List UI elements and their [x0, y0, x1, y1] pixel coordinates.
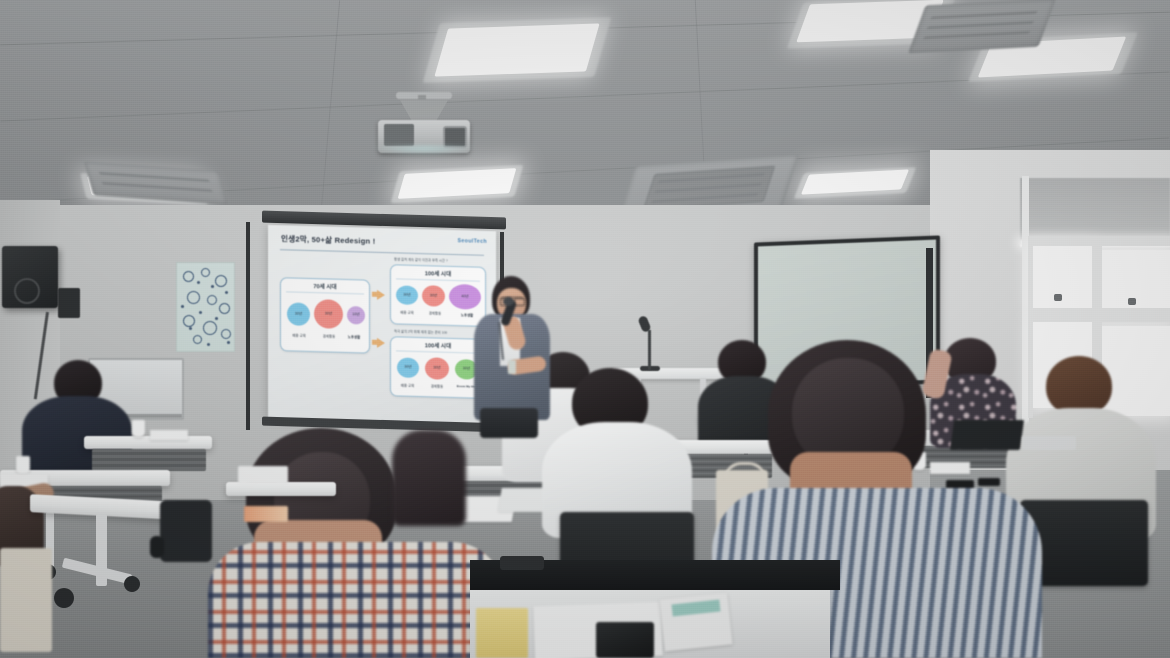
papers: [930, 462, 970, 474]
bubble-purple: 40년: [449, 284, 481, 310]
loudspeaker-cone-icon: [14, 278, 40, 304]
projector-light-glow: [372, 146, 476, 156]
arrow-to-100-top: [377, 290, 385, 300]
table: [226, 482, 336, 496]
caption-economy: 경제활동: [419, 310, 451, 316]
caption-retirement: 노후생활: [339, 334, 369, 340]
panel-divider: [396, 350, 480, 353]
bubble-red: 30년: [314, 299, 343, 329]
laptop-base[interactable]: [1022, 436, 1076, 450]
lanyard-badge: [508, 360, 516, 374]
person-head: [1046, 356, 1112, 416]
backpack: [160, 500, 212, 562]
window-latch[interactable]: [1054, 294, 1062, 301]
bubble-blue: 30년: [287, 302, 310, 326]
yellow-notepad: [476, 608, 528, 658]
caption-education: 배움·교육: [391, 382, 424, 388]
slide-logo: SeoulTech: [458, 238, 487, 245]
caption-retirement: 노후생활: [451, 312, 483, 318]
window-pane: [1102, 250, 1170, 312]
panel-divider: [396, 278, 480, 281]
slide-panel-100-bottom: 100세 시대 30년 30년 30년 배움·교육 경제활동 Boom My l…: [390, 336, 486, 399]
paper-cup: [16, 456, 30, 474]
bubble-purple: 10년: [347, 306, 365, 325]
window-latch[interactable]: [1128, 298, 1136, 305]
slide-title-rule: [280, 249, 484, 256]
handout-booklet: [244, 506, 288, 522]
slide-note-bottom: 적극 삶의 2막 위해 재취 없는 준비 100: [394, 328, 447, 334]
microphone-stand: [648, 330, 651, 370]
microphone-capsule: [503, 297, 514, 306]
panel-divider: [286, 291, 364, 294]
table-modesty-panel: [92, 449, 206, 471]
papers: [238, 466, 288, 484]
projection-screen: 인생2막, 50+삶 Redesign ! SeoulTech 70세 시대 3…: [268, 225, 496, 424]
bubble-blue: 30년: [396, 285, 418, 305]
loudspeaker-mount: [58, 288, 80, 318]
window-pane: [1102, 326, 1170, 416]
slide-title: 인생2막, 50+삶 Redesign !: [281, 233, 375, 247]
screen-left-edge: [246, 222, 250, 430]
slide-panel-100-top: 100세 시대 30년 30년 40년 배움·교육 경제활동 노후생활: [390, 264, 486, 327]
slide-note-top: 평생 걸쳐 계속 같이 이전과 부족 시간 ?: [394, 256, 448, 263]
projected-slide: 인생2막, 50+삶 Redesign ! SeoulTech 70세 시대 3…: [268, 225, 496, 424]
projector-vent: [384, 124, 414, 146]
person-dark-top: [392, 430, 466, 526]
slide-panel-100-bottom-heading: 100세 시대: [391, 340, 485, 351]
decorative-art-panel: [176, 262, 235, 352]
window-mullion: [1028, 236, 1033, 418]
ac-unit: [908, 0, 1056, 53]
table: [84, 436, 212, 449]
black-smartphone[interactable]: [596, 622, 654, 658]
window-pane: [1032, 246, 1092, 308]
circle-pattern-icon: [177, 263, 234, 351]
arrow-to-100-bottom: [377, 338, 385, 348]
bubble-blue: 30년: [397, 357, 419, 378]
chair-headrest: [500, 556, 544, 570]
caster-wheel: [54, 588, 74, 608]
person-plaid-shirt: [208, 542, 504, 658]
window-mullion: [1028, 308, 1170, 322]
seminar-room-photo: 인생2막, 50+삶 Redesign ! SeoulTech 70세 시대 3…: [0, 0, 1170, 658]
caster-wheel: [124, 576, 140, 592]
presenter-trousers: [480, 408, 538, 438]
paper-cup: [132, 420, 145, 437]
slide-panel-70: 70세 시대 30년 30년 10년 배움·교육 경제활동 노후생활: [280, 277, 370, 354]
projector-lens: [443, 126, 467, 148]
slide-panel-100-top-heading: 100세 시대: [391, 268, 485, 279]
laptop[interactable]: [950, 420, 1024, 450]
bubble-red: 30년: [425, 357, 449, 380]
papers: [150, 430, 188, 440]
black-smartphone[interactable]: [978, 478, 1000, 486]
tote-bag: [0, 548, 52, 652]
slide-panel-70-heading: 70세 시대: [281, 281, 369, 291]
bubble-red: 30년: [422, 285, 445, 307]
ceiling-light: [434, 23, 599, 76]
backpack-strap: [150, 536, 164, 558]
